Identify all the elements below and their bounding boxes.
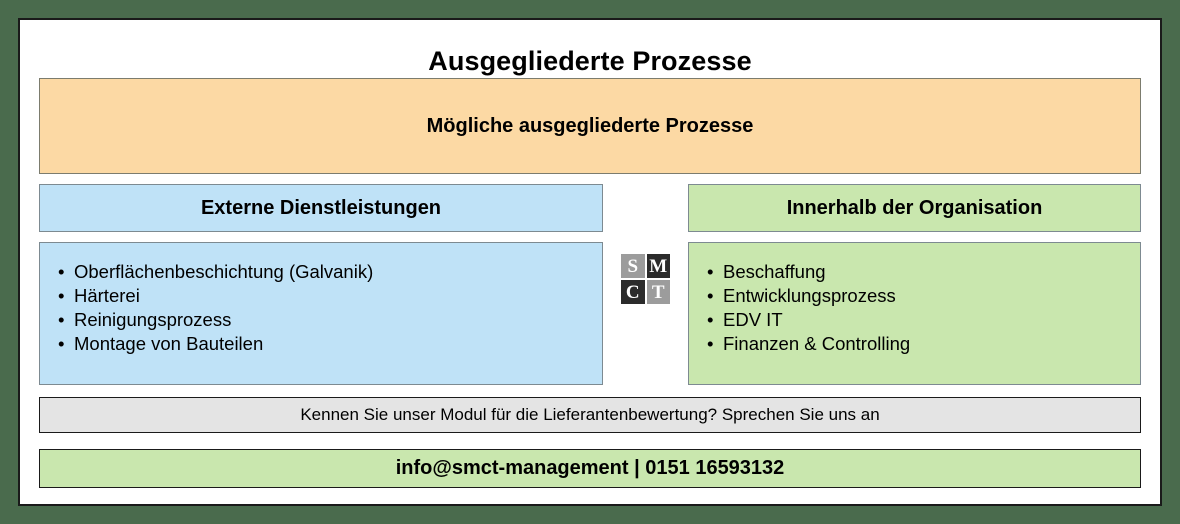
list-item: Finanzen & Controlling	[707, 332, 1122, 356]
smct-logo-cell-m: M	[647, 254, 671, 278]
contact-strip[interactable]: info@smct-management | 0151 16593132	[39, 449, 1141, 488]
list-item: Oberflächenbeschichtung (Galvanik)	[58, 260, 584, 284]
smct-logo-cell-t: T	[647, 280, 671, 304]
list-item: Montage von Bauteilen	[58, 332, 584, 356]
list-item: Beschaffung	[707, 260, 1122, 284]
list-item: Reinigungsprozess	[58, 308, 584, 332]
page-title: Ausgegliederte Prozesse	[20, 46, 1160, 77]
list-item: EDV IT	[707, 308, 1122, 332]
smct-logo-icon: S M C T	[621, 254, 670, 304]
smct-logo-cell-s: S	[621, 254, 645, 278]
slide-canvas: Ausgegliederte Prozesse Mögliche ausgegl…	[18, 18, 1162, 506]
column-header-external-services: Externe Dienstleistungen	[39, 184, 603, 232]
column-header-label: Innerhalb der Organisation	[787, 197, 1043, 220]
column-header-within-organisation: Innerhalb der Organisation	[688, 184, 1141, 232]
external-services-list: Oberflächenbeschichtung (Galvanik) Härte…	[58, 260, 584, 356]
external-services-list-panel: Oberflächenbeschichtung (Galvanik) Härte…	[39, 242, 603, 385]
within-organisation-list-panel: Beschaffung Entwicklungsprozess EDV IT F…	[688, 242, 1141, 385]
banner-label: Mögliche ausgegliederte Prozesse	[427, 115, 754, 138]
list-item: Härterei	[58, 284, 584, 308]
within-organisation-list: Beschaffung Entwicklungsprozess EDV IT F…	[707, 260, 1122, 356]
possible-outsourced-processes-banner: Mögliche ausgegliederte Prozesse	[39, 78, 1141, 174]
contact-label: info@smct-management | 0151 16593132	[396, 457, 785, 480]
smct-logo-cell-c: C	[621, 280, 645, 304]
supplier-evaluation-cta-strip[interactable]: Kennen Sie unser Modul für die Lieferant…	[39, 397, 1141, 433]
cta-label: Kennen Sie unser Modul für die Lieferant…	[300, 405, 879, 425]
list-item: Entwicklungsprozess	[707, 284, 1122, 308]
column-header-label: Externe Dienstleistungen	[201, 197, 441, 220]
